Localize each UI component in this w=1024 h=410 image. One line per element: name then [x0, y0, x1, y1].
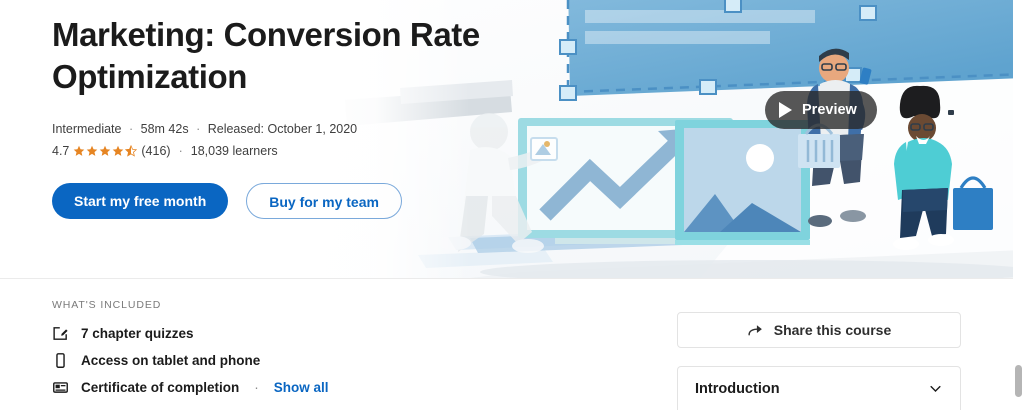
page-title: Marketing: Conversion Rate Optimization: [52, 14, 512, 98]
accordion-label: Introduction: [695, 381, 928, 397]
list-item-label: Certificate of completion: [81, 380, 239, 395]
chevron-down-icon: [928, 381, 943, 396]
play-icon: [779, 102, 792, 118]
list-item-label: Access on tablet and phone: [81, 353, 260, 368]
hero-content: Marketing: Conversion Rate Optimization …: [52, 14, 522, 219]
accordion-introduction[interactable]: Introduction: [677, 366, 961, 410]
preview-label: Preview: [802, 102, 857, 118]
start-free-month-button[interactable]: Start my free month: [52, 183, 228, 219]
star-rating: [73, 145, 137, 157]
meta-separator: ·: [192, 122, 204, 136]
dot-separator: ·: [251, 380, 262, 395]
star-filled-icon: [86, 145, 98, 157]
scrollbar-track[interactable]: [1013, 0, 1024, 401]
certificate-icon: [52, 379, 69, 396]
hero-cta-row: Start my free month Buy for my team: [52, 183, 522, 219]
whats-included-heading: WHAT'S INCLUDED: [52, 299, 482, 311]
review-count: (416): [141, 142, 170, 161]
share-course-label: Share this course: [774, 322, 892, 338]
course-hero: Marketing: Conversion Rate Optimization …: [0, 0, 1024, 278]
course-sidebar: Share this course Introduction: [677, 312, 961, 410]
course-level: Intermediate: [52, 122, 121, 136]
learner-count: 18,039 learners: [191, 142, 278, 161]
course-meta: Intermediate · 58m 42s · Released: Octob…: [52, 120, 522, 139]
course-release-date: Released: October 1, 2020: [208, 122, 357, 136]
meta-separator: ·: [175, 142, 187, 161]
mobile-phone-icon: [52, 352, 69, 369]
share-course-button[interactable]: Share this course: [677, 312, 961, 348]
rating-score: 4.7: [52, 142, 69, 161]
list-item: Access on tablet and phone: [52, 347, 482, 374]
show-all-link[interactable]: Show all: [274, 380, 329, 395]
star-filled-icon: [112, 145, 124, 157]
star-half-icon: [125, 145, 137, 157]
star-filled-icon: [99, 145, 111, 157]
course-details-section: WHAT'S INCLUDED 7 chapter quizzes Access…: [0, 279, 1024, 401]
buy-for-team-button[interactable]: Buy for my team: [246, 183, 402, 219]
course-duration: 58m 42s: [141, 122, 189, 136]
list-item-label: 7 chapter quizzes: [81, 326, 194, 341]
list-item: Certificate of completion · Show all: [52, 374, 482, 401]
course-rating: 4.7 (416) · 18,039 learners: [52, 142, 522, 161]
preview-button[interactable]: Preview: [765, 91, 877, 129]
star-filled-icon: [73, 145, 85, 157]
list-item: 7 chapter quizzes: [52, 320, 482, 347]
meta-separator: ·: [125, 122, 137, 136]
share-arrow-icon: [747, 322, 764, 339]
quiz-icon: [52, 325, 69, 342]
whats-included-block: WHAT'S INCLUDED 7 chapter quizzes Access…: [52, 299, 482, 401]
scrollbar-thumb[interactable]: [1015, 365, 1022, 397]
